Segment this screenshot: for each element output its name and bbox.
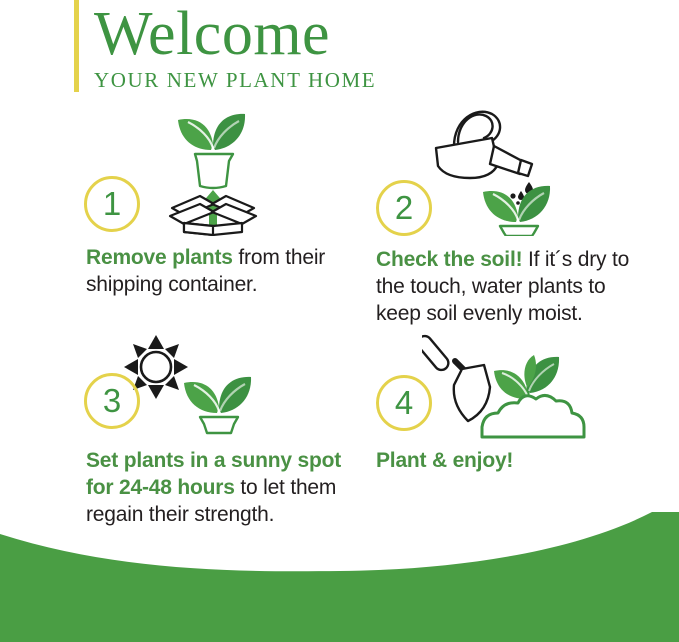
- step-2-lead: Check the soil!: [376, 248, 522, 271]
- step-1-lead: Remove plants: [86, 246, 233, 269]
- step-1-text: Remove plants from their shipping contai…: [86, 244, 348, 298]
- header-accent-rule: [74, 0, 79, 92]
- page-title: Welcome: [94, 0, 376, 66]
- header-text-group: Welcome YOUR NEW PLANT HOME: [94, 0, 376, 92]
- trowel-and-seedling-icon: [422, 329, 612, 441]
- step-item-3: 3 Set plants in a sunny spot for 24-48 h…: [78, 335, 348, 463]
- trowel-blade: [454, 365, 490, 421]
- step-item-4: 4 Plant & enjoy!: [374, 335, 654, 463]
- trowel-handle: [422, 333, 451, 373]
- step-2-text: Check the soil! If it´s dry to the touch…: [376, 246, 654, 327]
- bottom-green-wave: [0, 512, 679, 642]
- page-header: Welcome YOUR NEW PLANT HOME: [74, 0, 634, 100]
- step-item-1: 1 Remove plants from their shipping cont…: [78, 104, 348, 232]
- step-4-lead: Plant & enjoy!: [376, 449, 513, 472]
- step-4-text: Plant & enjoy!: [376, 447, 654, 474]
- step-number-badge-2: 2: [376, 180, 432, 236]
- sun-disc: [141, 352, 171, 382]
- step-item-2: 2 Check the soil! If it´s dry to the tou…: [374, 104, 654, 232]
- page-subtitle: YOUR NEW PLANT HOME: [94, 66, 376, 92]
- step-number-3: 3: [87, 376, 137, 426]
- sun-and-plant-icon: [114, 329, 294, 437]
- step-number-badge-3: 3: [84, 373, 140, 429]
- soil-mound: [482, 395, 584, 437]
- step-number-1: 1: [87, 179, 137, 229]
- step-number-2: 2: [379, 183, 429, 233]
- plant-in-box-icon: [148, 104, 278, 236]
- watering-can-icon: [412, 104, 572, 236]
- step-number-badge-4: 4: [376, 375, 432, 431]
- step-number-badge-1: 1: [84, 176, 140, 232]
- step-number-4: 4: [379, 378, 429, 428]
